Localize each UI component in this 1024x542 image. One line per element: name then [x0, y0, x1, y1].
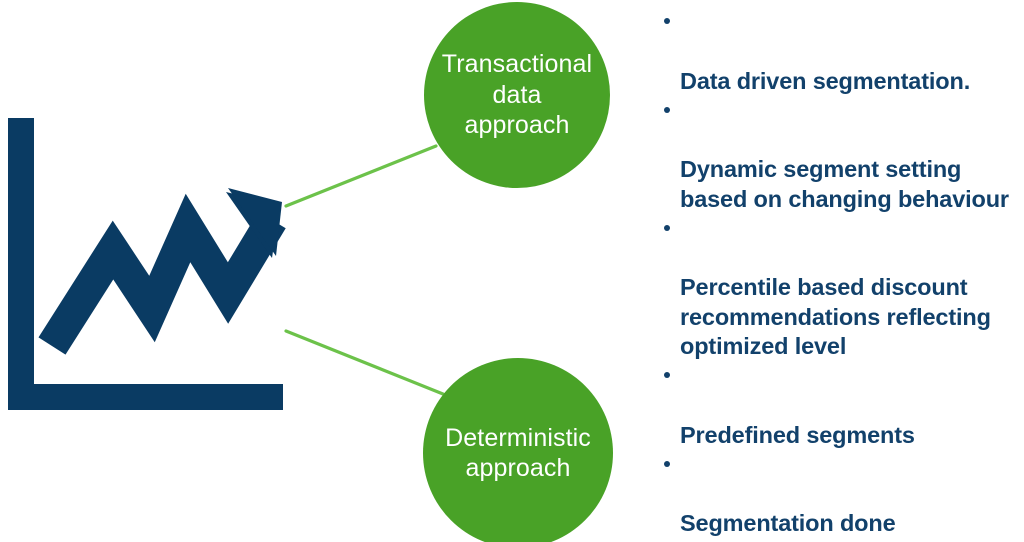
bullet-dot-icon [664, 372, 670, 378]
list-item-text: Predefined segments [680, 422, 915, 448]
list-item: Data driven segmentation. [658, 8, 1024, 96]
list-item-text: Data driven segmentation. [680, 68, 970, 94]
list-item: Predefined segments [658, 362, 1024, 450]
node-transactional-label: Transactional data approach [424, 49, 610, 141]
deterministic-bullet-list: Predefined segments Segmentation done ma… [658, 362, 1024, 542]
node-transactional-data-approach[interactable]: Transactional data approach [424, 2, 610, 188]
connector-to-deterministic [286, 331, 443, 394]
node-deterministic-label: Deterministic approach [431, 423, 605, 484]
bullet-dot-icon [664, 18, 670, 24]
bullet-dot-icon [664, 225, 670, 231]
list-item: Segmentation done manually [658, 450, 1024, 542]
list-item-text: Segmentation done manually [680, 510, 896, 542]
list-item: Percentile based discount recommendation… [658, 214, 1024, 361]
transactional-bullet-list: Data driven segmentation. Dynamic segmen… [658, 8, 1024, 362]
diagram-canvas: Transactional data approach Deterministi… [0, 0, 1024, 542]
list-item: Dynamic segment setting based on changin… [658, 96, 1024, 214]
node-deterministic-approach[interactable]: Deterministic approach [423, 358, 613, 542]
bullet-dot-icon [664, 461, 670, 467]
list-item-text: Dynamic segment setting based on changin… [680, 156, 1009, 211]
list-item-text: Percentile based discount recommendation… [680, 274, 991, 359]
growth-arrow-chart-icon [0, 110, 300, 430]
connector-to-transactional [286, 146, 436, 206]
bullet-dot-icon [664, 107, 670, 113]
